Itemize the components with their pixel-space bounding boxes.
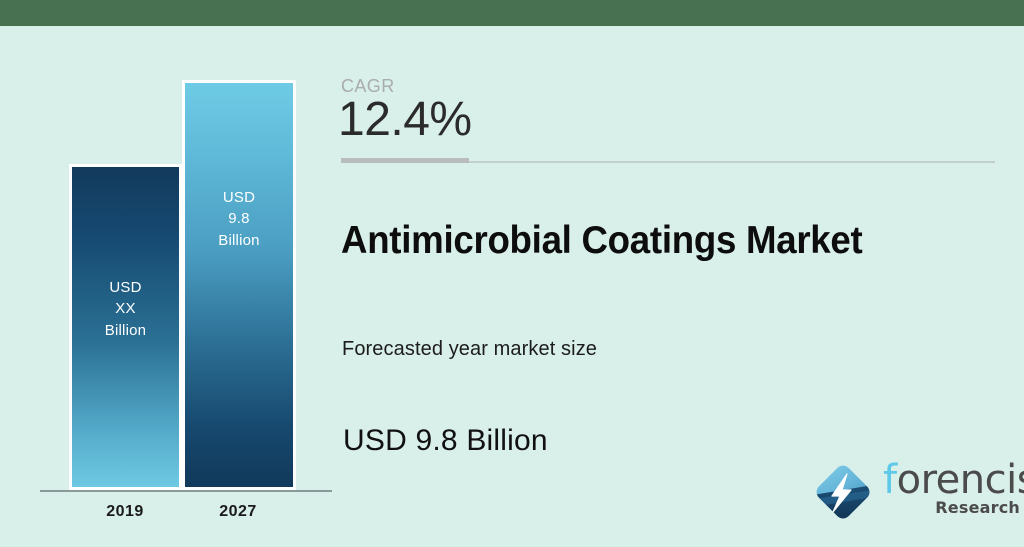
forencis-research-logo: forencis Research (807, 448, 1020, 530)
forencis-diamond-logo-icon (807, 456, 879, 528)
forencis-brand-rest: orencis (897, 457, 1024, 503)
divider-thick-segment (341, 158, 469, 163)
bar-2027: USD 9.8 Billion (182, 80, 296, 490)
forecast-value: USD 9.8 Billion (343, 424, 548, 458)
forencis-brand-text: forencis (883, 460, 1024, 500)
bar-2027-label-line-3: Billion (218, 230, 259, 251)
infographic-canvas: USD XX Billion USD 9.8 Billion 2019 2027… (0, 0, 1024, 547)
forencis-brand-initial: f (883, 457, 897, 503)
page-title: Antimicrobial Coatings Market (341, 219, 862, 263)
bar-2019-value-label: USD XX Billion (105, 277, 146, 341)
bar-chart: USD XX Billion USD 9.8 Billion 2019 2027 (0, 26, 336, 547)
cagr-value: 12.4% (338, 96, 472, 144)
x-axis-tick-2019: 2019 (85, 503, 165, 521)
content-panel: CAGR 12.4% Antimicrobial Coatings Market… (341, 26, 1024, 547)
forencis-research-subtext: Research (935, 498, 1020, 517)
bar-2027-value-label: USD 9.8 Billion (218, 187, 259, 251)
bar-2019: USD XX Billion (69, 164, 182, 490)
bar-2027-label-line-1: USD (223, 187, 255, 208)
x-axis-tick-labels: 2019 2027 (40, 503, 332, 533)
divider (341, 158, 995, 163)
bar-2019-label-line-3: Billion (105, 320, 146, 341)
forencis-wordmark: forencis Research (883, 460, 1020, 524)
bar-2019-label-line-1: USD (109, 277, 141, 298)
bar-2019-label-line-2: XX (115, 298, 135, 319)
x-axis-line (40, 490, 332, 492)
bar-2027-label-line-2: 9.8 (228, 208, 249, 229)
forecast-label: Forecasted year market size (342, 338, 597, 361)
x-axis-tick-2027: 2027 (198, 503, 278, 521)
top-green-band (0, 0, 1024, 26)
